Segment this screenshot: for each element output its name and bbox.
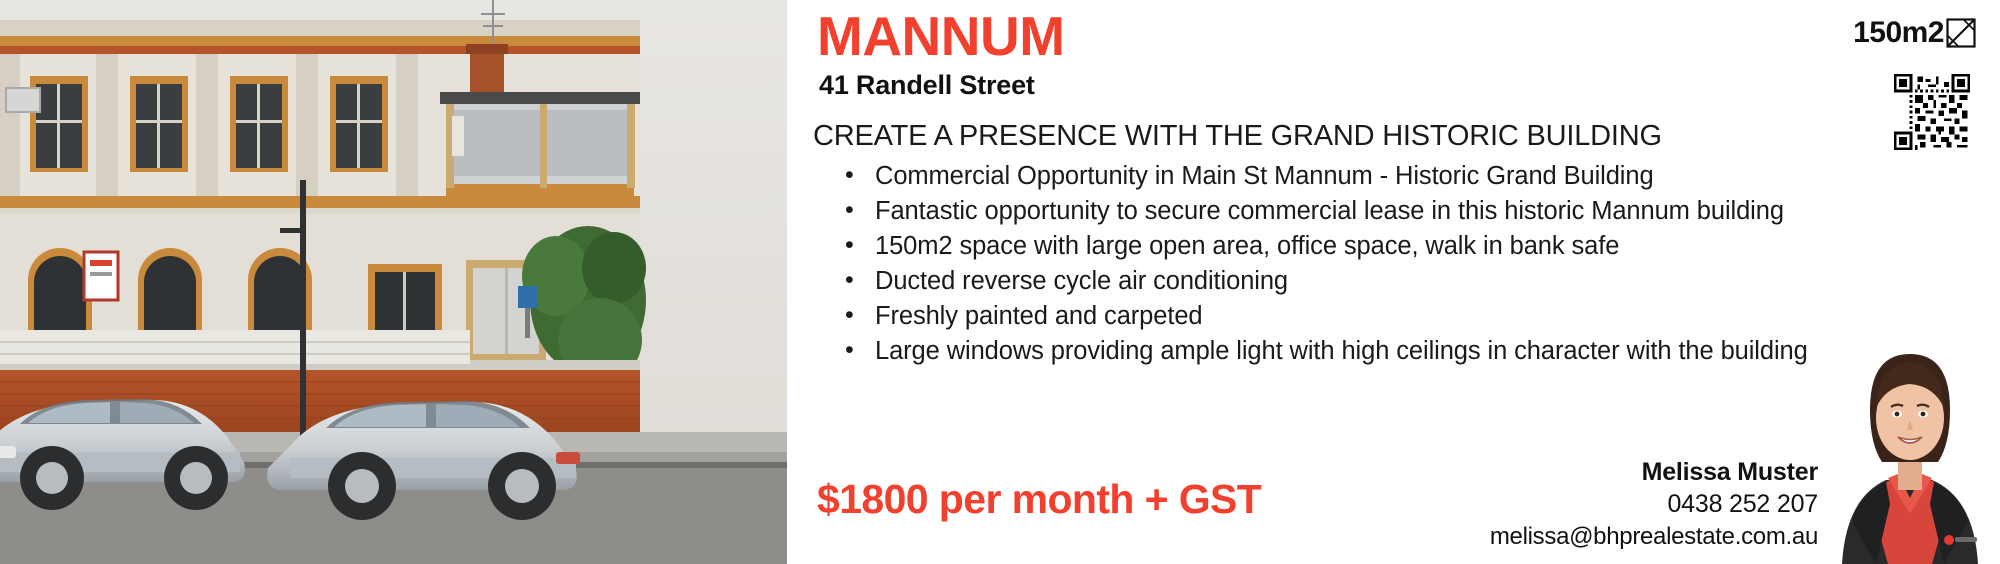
list-item: Large windows providing ample light with… xyxy=(835,335,1835,369)
floorplan-icon xyxy=(1946,18,1976,48)
agent-contact-block: Melissa Muster 0438 252 207 melissa@bhpr… xyxy=(1490,457,1818,552)
property-photo xyxy=(0,0,787,564)
list-item: Fantastic opportunity to secure commerci… xyxy=(835,195,1835,229)
agent-phone[interactable]: 0438 252 207 xyxy=(1490,488,1818,521)
street-address: 41 Randell Street xyxy=(819,70,1035,101)
floor-area-badge: 150m2 xyxy=(1853,16,1976,50)
list-item: Ducted reverse cycle air conditioning xyxy=(835,265,1835,299)
list-item: 150m2 space with large open area, office… xyxy=(835,230,1835,264)
property-listing-ad: MANNUM 41 Randell Street CREATE A PRESEN… xyxy=(0,0,2000,564)
listing-details-panel: MANNUM 41 Randell Street CREATE A PRESEN… xyxy=(787,0,2000,564)
list-item: Commercial Opportunity in Main St Mannum… xyxy=(835,160,1835,194)
feature-list: Commercial Opportunity in Main St Mannum… xyxy=(835,160,1835,369)
agent-portrait-photo xyxy=(1818,324,2000,564)
listing-headline: CREATE A PRESENCE WITH THE GRAND HISTORI… xyxy=(813,120,1662,153)
price-label: $1800 per month + GST xyxy=(817,476,1261,523)
qr-code-icon[interactable] xyxy=(1894,74,1970,150)
floor-area-value: 150m2 xyxy=(1853,16,1944,50)
suburb-title: MANNUM xyxy=(817,8,1065,66)
list-item: Freshly painted and carpeted xyxy=(835,300,1835,334)
agent-name: Melissa Muster xyxy=(1490,457,1818,488)
agent-email[interactable]: melissa@bhprealestate.com.au xyxy=(1490,521,1818,552)
